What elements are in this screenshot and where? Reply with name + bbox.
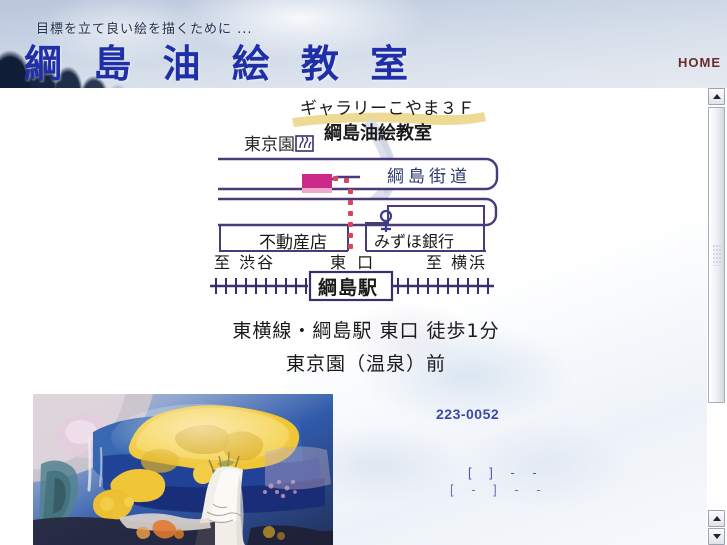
main-content: ギャラリーこやま３Ｆ 綱島油絵教室 東京園 綱島街道 不動産店 みずほ銀行 東 … bbox=[0, 88, 707, 545]
map-label-main-road: 綱島街道 bbox=[387, 167, 471, 187]
caption-line-2: 東京園（温泉）前 bbox=[196, 349, 536, 376]
scroll-up-arrow-icon-bottom bbox=[713, 516, 721, 521]
page-root: 目標を立て良い絵を描くために ... 綱 島 油 絵 教 室 HOME bbox=[0, 0, 727, 545]
map-label-gallery: ギャラリーこやま３Ｆ bbox=[300, 99, 475, 119]
scrollbar-grip-icon bbox=[712, 244, 721, 266]
map-label-realestate: 不動産店 bbox=[259, 233, 327, 253]
map-label-bank: みずほ銀行 bbox=[374, 232, 454, 251]
artwork-image bbox=[33, 394, 333, 545]
map-label-to-yokohama: 至 横浜 bbox=[426, 253, 487, 272]
map-label-east-exit: 東 口 bbox=[330, 253, 376, 272]
postal-code: 223-0052 bbox=[436, 406, 499, 422]
hot-spring-icon bbox=[296, 136, 313, 151]
access-map: ギャラリーこやま３Ｆ 綱島油絵教室 東京園 綱島街道 不動産店 みずほ銀行 東 … bbox=[196, 96, 506, 316]
map-label-tokyoen: 東京園 bbox=[244, 135, 295, 155]
address-line-1: [ ] - - bbox=[468, 465, 544, 480]
page-title: 綱 島 油 絵 教 室 bbox=[24, 33, 417, 88]
scroll-up-button-bottom[interactable] bbox=[708, 510, 725, 527]
scroll-up-arrow-icon bbox=[713, 94, 721, 99]
nav-link-home[interactable]: HOME bbox=[678, 55, 721, 70]
access-caption: 東横線・綱島駅 東口 徒歩1分 東京園（温泉）前 bbox=[196, 316, 536, 376]
scroll-down-arrow-icon bbox=[713, 534, 721, 539]
scroll-up-button[interactable] bbox=[708, 88, 725, 105]
site-header: 目標を立て良い絵を描くために ... 綱 島 油 絵 教 室 HOME bbox=[0, 0, 727, 88]
vertical-scrollbar[interactable] bbox=[707, 88, 727, 545]
map-label-to-shibuya: 至 渋谷 bbox=[214, 253, 275, 272]
scroll-down-button[interactable] bbox=[708, 528, 725, 545]
scrollbar-thumb[interactable] bbox=[708, 107, 725, 403]
address-line-2: [ - ] - - bbox=[450, 482, 548, 497]
map-label-station: 綱島駅 bbox=[318, 276, 378, 299]
caption-line-1: 東横線・綱島駅 東口 徒歩1分 bbox=[196, 316, 536, 343]
map-label-school: 綱島油絵教室 bbox=[324, 122, 432, 144]
